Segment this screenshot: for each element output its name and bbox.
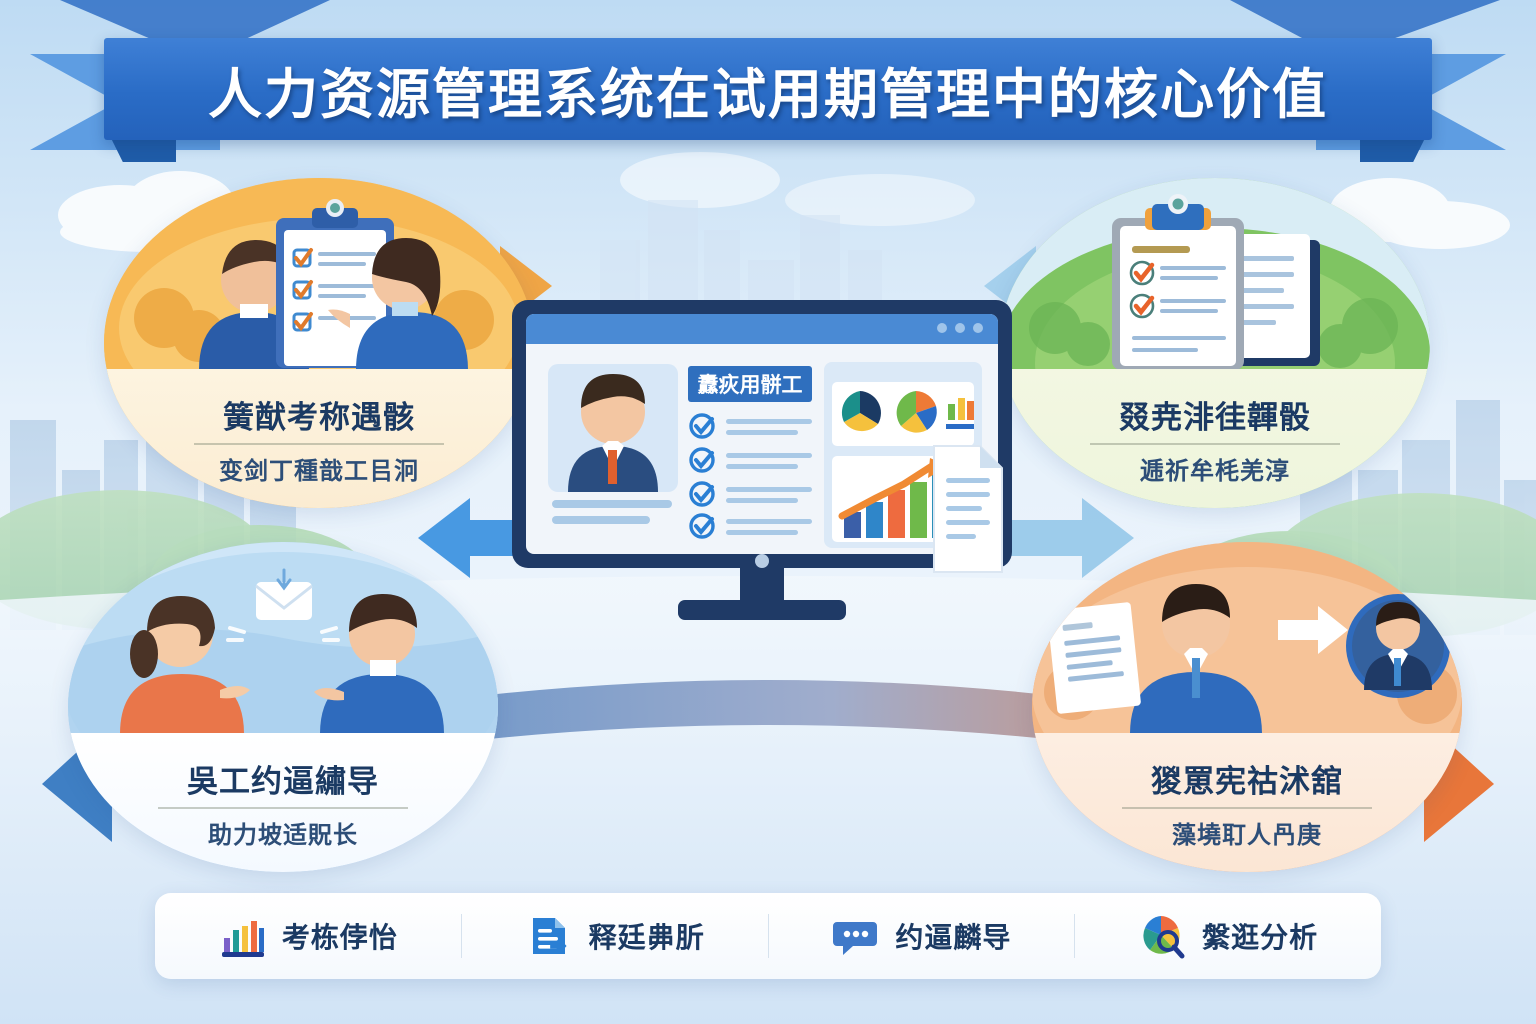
conversation-illustration — [68, 542, 498, 733]
quad-tl-ellipse: 簧猷考称遇骸 变剑丁種戠工㠯泂 — [104, 178, 534, 508]
quad-tl-scene — [104, 178, 534, 369]
quad-tr-scene — [1000, 178, 1430, 369]
quad-tr-text: 叕尭渄徍韗骰 逓祈牟枆羌淳 — [1000, 369, 1430, 508]
formal-employee-avatar-badge — [1346, 594, 1450, 698]
legend-label-assessment: 考栋侼怡 — [282, 916, 398, 956]
quad-bl-ellipse: 吳工约逼繡导 助力坡适貺长 — [68, 542, 498, 872]
quadrant-top-right[interactable]: 叕尭渄徍韗骰 逓祈牟枆羌淳 — [1000, 178, 1430, 508]
quad-tl-text: 簧猷考称遇骸 变剑丁種戠工㠯泂 — [104, 369, 534, 508]
quadrant-bottom-left[interactable]: 吳工约逼繡导 助力坡适貺长 — [68, 542, 498, 872]
quad-bl-rule — [158, 807, 408, 809]
quad-bl-scene — [68, 542, 498, 733]
two-colleagues-with-checklist-illustration — [104, 178, 534, 369]
quad-bl-subtitle: 助力坡适貺长 — [208, 815, 358, 850]
legend-item-assessment[interactable]: 考栋侼怡 — [155, 893, 461, 979]
monitor-neck — [740, 568, 784, 602]
monitor-illustration: 纛疢用骿工 — [512, 300, 1012, 650]
clipboard-documents-illustration — [1000, 178, 1430, 369]
quadrant-bottom-right[interactable]: 猣罳宪祜沭舘 藻墝耵人冎庚 — [1032, 542, 1462, 872]
floating-report-document — [934, 446, 1002, 572]
quadrant-top-left[interactable]: 簧猷考称遇骸 变剑丁種戠工㠯泂 — [104, 178, 534, 508]
legend-label-analysis: 縏逛分析 — [1202, 916, 1318, 956]
ribbon-band: 人力资源管理系统在试用期管理中的核心价值 — [104, 38, 1432, 140]
employee-conversion-illustration — [1032, 542, 1462, 733]
clipboard-with-checks — [1112, 194, 1244, 369]
page-title: 人力资源管理系统在试用期管理中的核心价值 — [208, 50, 1328, 129]
legend-item-communication[interactable]: 约逼麟导 — [769, 893, 1075, 979]
title-ribbon: 人力资源管理系统在试用期管理中的核心价值 — [0, 16, 1536, 166]
quad-tr-ellipse: 叕尭渄徍韗骰 逓祈牟枆羌淳 — [1000, 178, 1430, 508]
quad-tl-subtitle: 变剑丁種戠工㠯泂 — [219, 451, 419, 486]
monitor-power-dot — [755, 554, 769, 568]
monitor-base — [678, 600, 846, 620]
legend-label-document: 释廷丳肵 — [589, 916, 705, 956]
quad-tr-subtitle: 逓祈牟枆羌淳 — [1140, 451, 1290, 486]
infographic-canvas: 人力资源管理系统在试用期管理中的核心价值 — [0, 0, 1536, 1024]
quad-br-rule — [1122, 807, 1372, 809]
quad-bl-title: 吳工约逼繡导 — [187, 756, 379, 801]
chat-bubble-icon — [831, 912, 879, 960]
quad-br-subtitle: 藻墝耵人冎庚 — [1172, 815, 1322, 850]
quad-br-text: 猣罳宪祜沭舘 藻墝耵人冎庚 — [1032, 733, 1462, 872]
legend-label-communication: 约逼麟导 — [895, 916, 1011, 956]
document-upload-icon — [525, 912, 573, 960]
legend-bar: 考栋侼怡 释廷丳肵 约逼麟导 — [155, 893, 1381, 979]
pie-analysis-icon — [1138, 912, 1186, 960]
window-dots — [937, 323, 983, 333]
panel-banner-label: 纛疢用骿工 — [698, 373, 803, 397]
quad-br-scene — [1032, 542, 1462, 733]
quad-tr-rule — [1090, 443, 1340, 445]
employee-profile-card — [548, 364, 678, 524]
quad-br-title: 猣罳宪祜沭舘 — [1151, 756, 1343, 801]
legend-item-document[interactable]: 释廷丳肵 — [462, 893, 768, 979]
quad-tl-rule — [194, 443, 444, 445]
quad-bl-text: 吳工约逼繡导 助力坡适貺长 — [68, 733, 498, 872]
legend-item-analysis[interactable]: 縏逛分析 — [1075, 893, 1381, 979]
bar-chart-icon — [218, 912, 266, 960]
quad-br-ellipse: 猣罳宪祜沭舘 藻墝耵人冎庚 — [1032, 542, 1462, 872]
hr-system-monitor[interactable]: 纛疢用骿工 — [512, 300, 1012, 650]
quad-tl-title: 簧猷考称遇骸 — [223, 392, 415, 437]
quad-tr-title: 叕尭渄徍韗骰 — [1119, 392, 1311, 437]
